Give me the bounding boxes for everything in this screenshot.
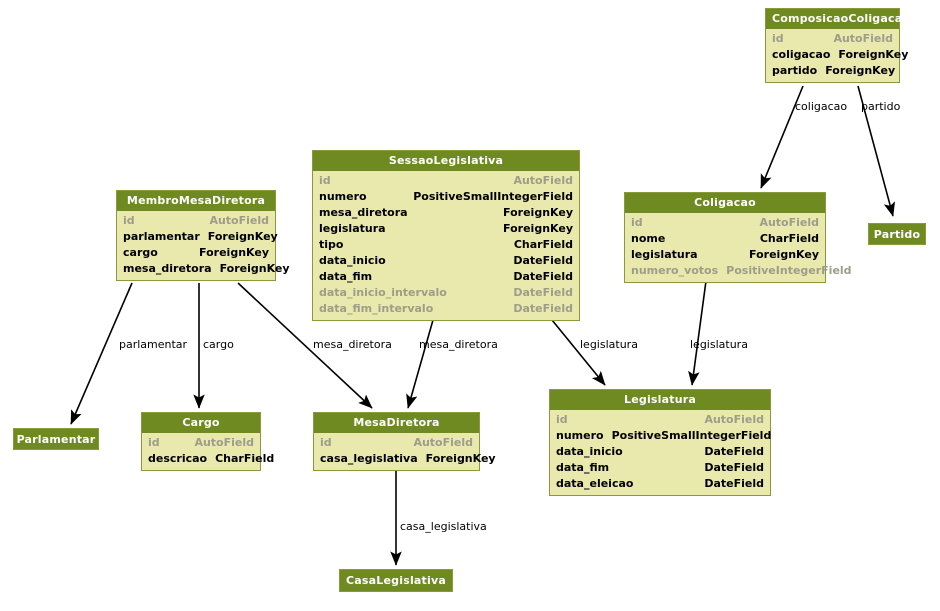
- entity-casa-legislativa[interactable]: CasaLegislativa: [339, 569, 453, 592]
- field-name: id: [772, 31, 792, 47]
- edge-label-composicaocoligacao-partido: partido: [861, 100, 900, 113]
- field-row: descricaoCharField: [142, 451, 260, 467]
- field-name: nome: [631, 231, 673, 247]
- edge-sessaolegislativa-mesadiretora: [408, 320, 433, 408]
- field-name: data_fim_intervalo: [319, 301, 441, 317]
- entity-cargo[interactable]: CargoidAutoFielddescricaoCharField: [141, 412, 261, 471]
- field-type: ForeignKey: [220, 261, 290, 277]
- field-row: idAutoField: [550, 412, 770, 428]
- entity-parlamentar[interactable]: Parlamentar: [13, 428, 99, 450]
- field-row: idAutoField: [314, 435, 479, 451]
- field-name: numero_votos: [631, 263, 726, 279]
- field-type: ForeignKey: [426, 451, 496, 467]
- field-row: data_eleicaoDateField: [550, 476, 770, 492]
- edge-label-membromesadiretora-mesadiretora: mesa_diretora: [313, 338, 392, 351]
- field-name: data_inicio: [319, 253, 394, 269]
- entity-title: ComposicaoColigacao: [766, 9, 899, 29]
- field-type: DateField: [704, 476, 764, 492]
- entity-fields: idAutoFieldcoligacaoForeignKeypartidoFor…: [766, 29, 899, 82]
- field-row: cargoForeignKey: [117, 245, 275, 261]
- entity-title: Cargo: [142, 413, 260, 433]
- edge-label-membromesadiretora-cargo: cargo: [203, 338, 234, 351]
- field-type: ForeignKey: [838, 47, 908, 63]
- entity-title: Legislatura: [550, 390, 770, 410]
- field-name: numero: [319, 189, 375, 205]
- field-row: idAutoField: [313, 173, 579, 189]
- field-row: idAutoField: [766, 31, 899, 47]
- field-name: id: [556, 412, 576, 428]
- entity-title: Partido: [874, 228, 920, 241]
- edge-label-mesadiretora-casalegislativa: casa_legislativa: [400, 520, 487, 533]
- entity-membro-mesa-diretora[interactable]: MembroMesaDiretoraidAutoFieldparlamentar…: [116, 190, 276, 281]
- edge-label-membromesadiretora-parlamentar: parlamentar: [119, 338, 187, 351]
- field-name: legislatura: [319, 221, 394, 237]
- field-row: nomeCharField: [625, 231, 825, 247]
- field-name: tipo: [319, 237, 351, 253]
- field-type: ForeignKey: [503, 221, 573, 237]
- field-row: tipoCharField: [313, 237, 579, 253]
- field-row: legislaturaForeignKey: [313, 221, 579, 237]
- field-row: numeroPositiveSmallIntegerField: [550, 428, 770, 444]
- field-row: data_fimDateField: [550, 460, 770, 476]
- field-row: idAutoField: [142, 435, 260, 451]
- entity-title: MesaDiretora: [314, 413, 479, 433]
- entity-partido[interactable]: Partido: [868, 223, 926, 245]
- field-type: ForeignKey: [199, 245, 269, 261]
- entity-coligacao[interactable]: ColigacaoidAutoFieldnomeCharFieldlegisla…: [624, 192, 826, 283]
- field-name: data_inicio_intervalo: [319, 285, 455, 301]
- field-type: DateField: [704, 444, 764, 460]
- field-name: id: [320, 435, 340, 451]
- entity-fields: idAutoFieldcasa_legislativaForeignKey: [314, 433, 479, 470]
- field-row: data_inicio_intervaloDateField: [313, 285, 579, 301]
- edge-coligacao-legislatura: [692, 281, 706, 385]
- field-type: AutoField: [759, 215, 819, 231]
- field-row: parlamentarForeignKey: [117, 229, 275, 245]
- entity-fields: idAutoFielddescricaoCharField: [142, 433, 260, 470]
- field-row: mesa_diretoraForeignKey: [117, 261, 275, 277]
- entity-composicao-coligacao[interactable]: ComposicaoColigacaoidAutoFieldcoligacaoF…: [765, 8, 900, 83]
- entity-mesa-diretora[interactable]: MesaDiretoraidAutoFieldcasa_legislativaF…: [313, 412, 480, 471]
- field-type: DateField: [513, 285, 573, 301]
- field-type: PositiveSmallIntegerField: [612, 428, 772, 444]
- entity-fields: idAutoFieldnumeroPositiveSmallIntegerFie…: [550, 410, 770, 495]
- field-name: cargo: [123, 245, 166, 261]
- field-type: CharField: [514, 237, 573, 253]
- field-type: PositiveIntegerField: [726, 263, 851, 279]
- field-row: legislaturaForeignKey: [625, 247, 825, 263]
- entity-sessao-legislativa[interactable]: SessaoLegislativaidAutoFieldnumeroPositi…: [312, 150, 580, 321]
- entity-title: SessaoLegislativa: [313, 151, 579, 171]
- entity-title: Coligacao: [625, 193, 825, 213]
- entity-fields: idAutoFieldparlamentarForeignKeycargoFor…: [117, 211, 275, 280]
- field-name: parlamentar: [123, 229, 208, 245]
- field-name: data_fim: [556, 460, 617, 476]
- field-type: DateField: [704, 460, 764, 476]
- field-row: casa_legislativaForeignKey: [314, 451, 479, 467]
- field-row: coligacaoForeignKey: [766, 47, 899, 63]
- field-name: data_inicio: [556, 444, 631, 460]
- field-row: idAutoField: [625, 215, 825, 231]
- field-name: casa_legislativa: [320, 451, 426, 467]
- field-row: idAutoField: [117, 213, 275, 229]
- edge-membromesadiretora-parlamentar: [71, 283, 132, 424]
- field-type: CharField: [760, 231, 819, 247]
- field-name: data_eleicao: [556, 476, 641, 492]
- field-row: data_fim_intervaloDateField: [313, 301, 579, 317]
- edge-label-sessaolegislativa-legislatura: legislatura: [580, 338, 638, 351]
- field-type: AutoField: [704, 412, 764, 428]
- edge-sessaolegislativa-legislatura: [552, 320, 605, 385]
- field-name: partido: [772, 63, 825, 79]
- field-row: numero_votosPositiveIntegerField: [625, 263, 825, 279]
- field-type: AutoField: [833, 31, 893, 47]
- edge-label-composicaocoligacao-coligacao: coligacao: [795, 100, 847, 113]
- field-name: id: [123, 213, 143, 229]
- field-name: numero: [556, 428, 612, 444]
- field-name: mesa_diretora: [123, 261, 220, 277]
- field-name: data_fim: [319, 269, 380, 285]
- entity-title: CasaLegislativa: [346, 574, 446, 587]
- entity-title: MembroMesaDiretora: [117, 191, 275, 211]
- field-type: ForeignKey: [208, 229, 278, 245]
- field-type: AutoField: [413, 435, 473, 451]
- field-type: DateField: [513, 301, 573, 317]
- field-type: AutoField: [209, 213, 269, 229]
- field-type: DateField: [513, 253, 573, 269]
- field-name: coligacao: [772, 47, 838, 63]
- entity-fields: idAutoFieldnumeroPositiveSmallIntegerFie…: [313, 171, 579, 320]
- field-type: AutoField: [194, 435, 254, 451]
- entity-legislatura[interactable]: LegislaturaidAutoFieldnumeroPositiveSmal…: [549, 389, 771, 496]
- field-name: mesa_diretora: [319, 205, 416, 221]
- field-row: mesa_diretoraForeignKey: [313, 205, 579, 221]
- field-name: id: [319, 173, 339, 189]
- field-type: ForeignKey: [749, 247, 819, 263]
- field-type: DateField: [513, 269, 573, 285]
- field-row: data_fimDateField: [313, 269, 579, 285]
- field-type: AutoField: [513, 173, 573, 189]
- field-name: id: [148, 435, 168, 451]
- er-diagram-canvas: ComposicaoColigacaoidAutoFieldcoligacaoF…: [0, 0, 940, 611]
- field-name: descricao: [148, 451, 215, 467]
- field-type: PositiveSmallIntegerField: [413, 189, 573, 205]
- field-row: partidoForeignKey: [766, 63, 899, 79]
- edge-label-coligacao-legislatura: legislatura: [690, 338, 748, 351]
- field-name: legislatura: [631, 247, 706, 263]
- edge-label-sessaolegislativa-mesadiretora: mesa_diretora: [419, 338, 498, 351]
- field-row: data_inicioDateField: [550, 444, 770, 460]
- field-name: id: [631, 215, 651, 231]
- field-row: numeroPositiveSmallIntegerField: [313, 189, 579, 205]
- field-type: ForeignKey: [825, 63, 895, 79]
- entity-fields: idAutoFieldnomeCharFieldlegislaturaForei…: [625, 213, 825, 282]
- entity-title: Parlamentar: [17, 433, 96, 446]
- field-row: data_inicioDateField: [313, 253, 579, 269]
- field-type: CharField: [215, 451, 274, 467]
- field-type: ForeignKey: [503, 205, 573, 221]
